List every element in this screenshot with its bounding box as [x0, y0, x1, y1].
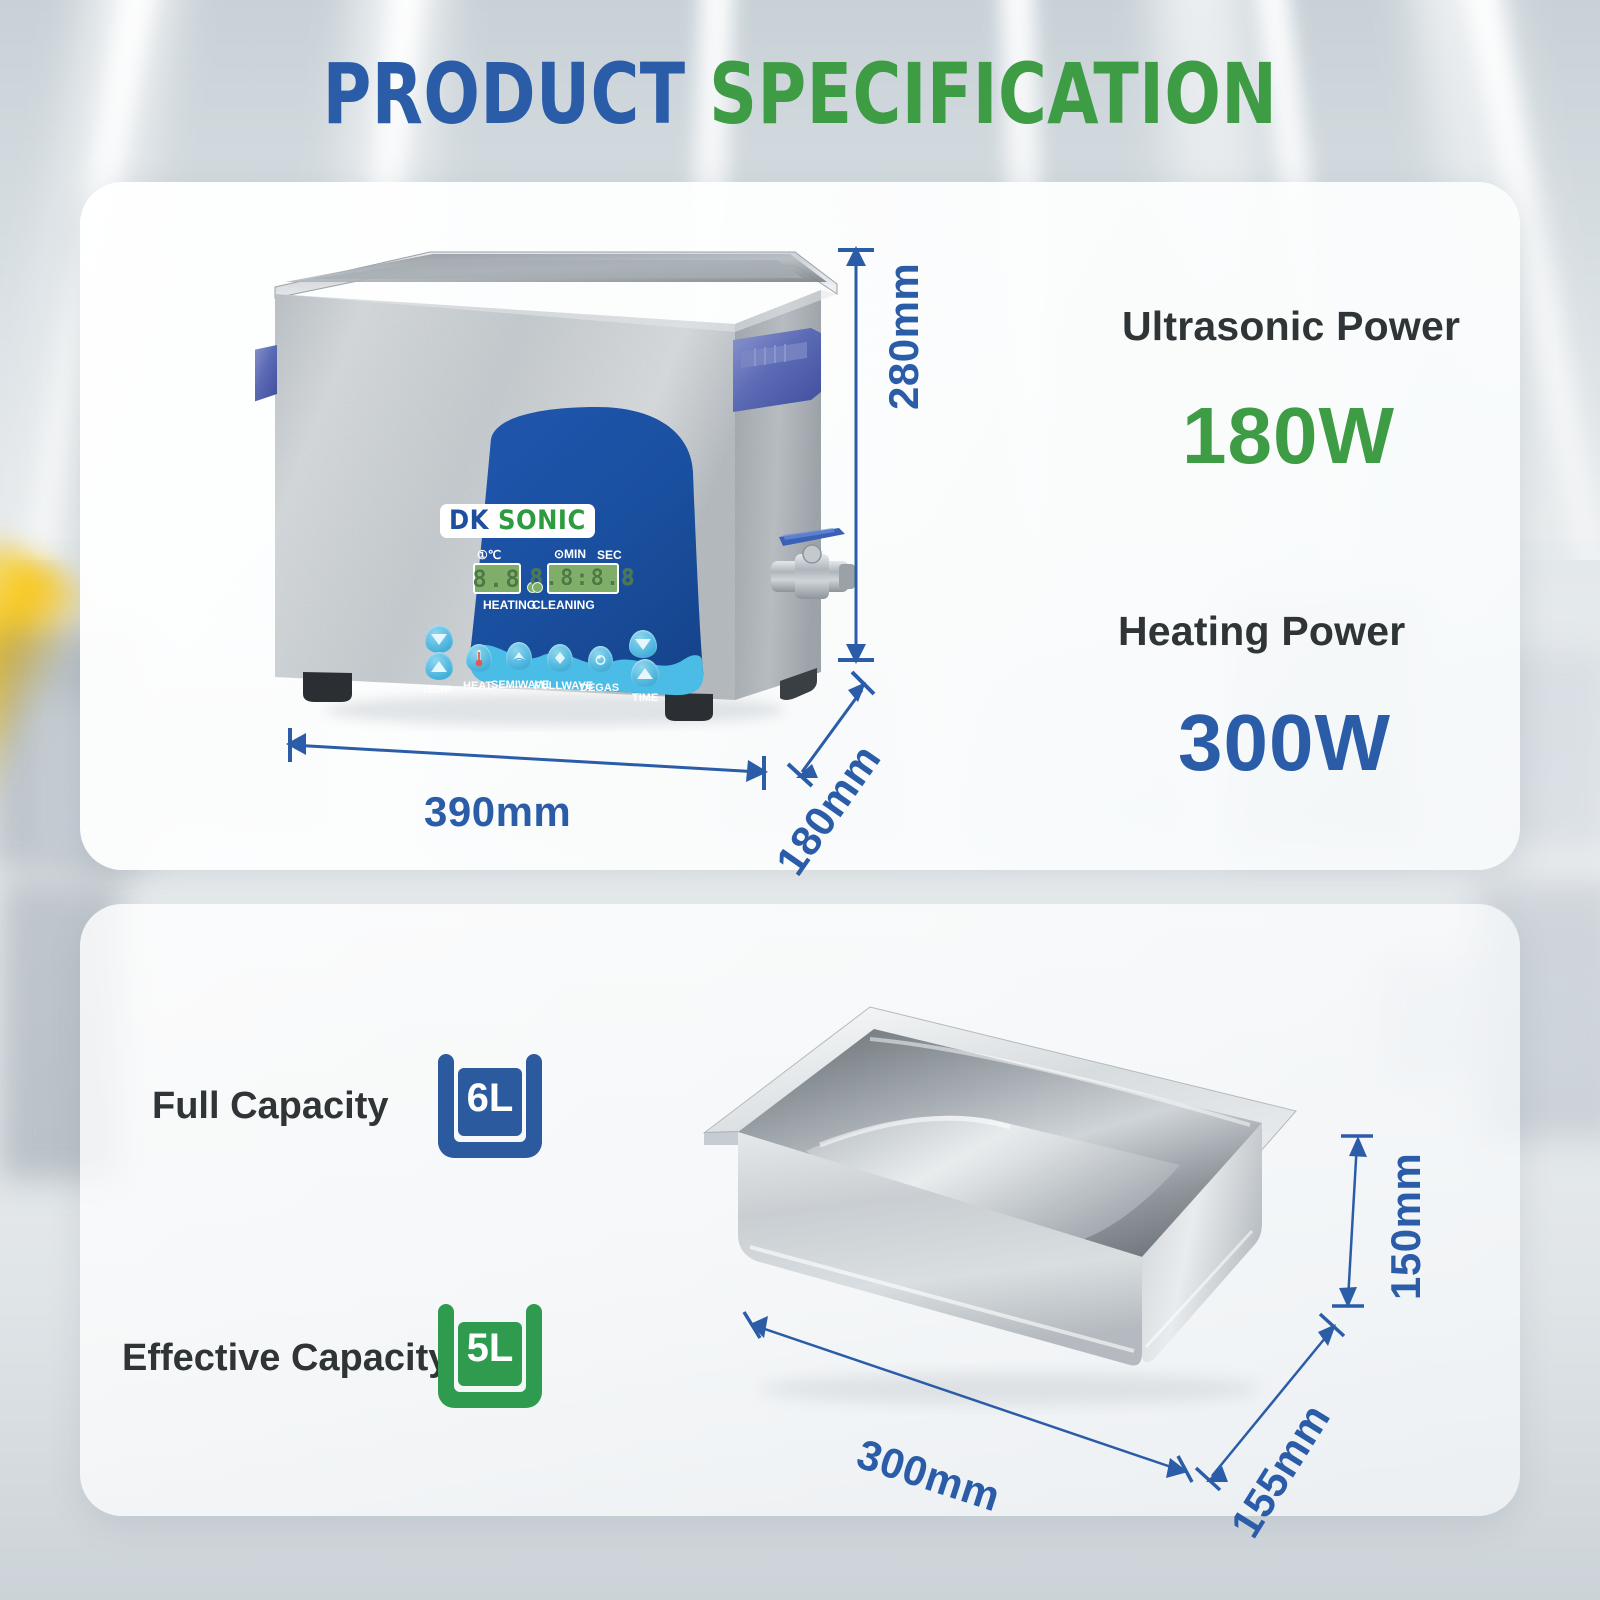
tank-height-arrow-top: [1349, 1136, 1367, 1157]
tank-height-dimension-line: [1348, 1142, 1357, 1300]
effective-capacity-value: 5L: [424, 1326, 556, 1371]
tank-height-label: 150mm: [1382, 1153, 1430, 1300]
full-capacity-value: 6L: [424, 1076, 556, 1121]
tank-dimension-lines: [0, 0, 1600, 1600]
tank-length-dimension-line: [756, 1326, 1180, 1470]
